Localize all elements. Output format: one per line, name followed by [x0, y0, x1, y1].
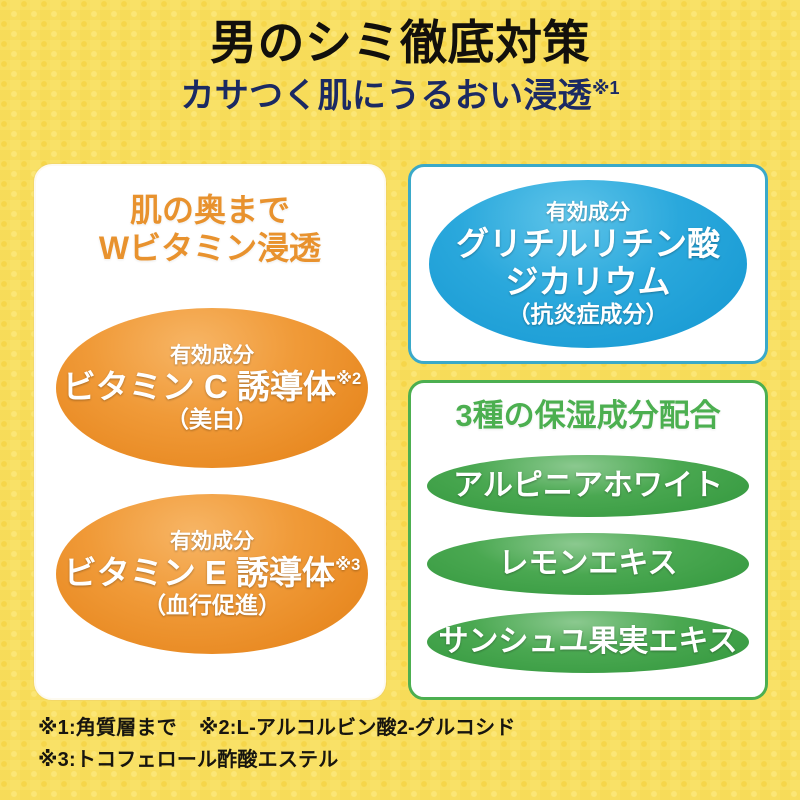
glycyrrhizinate-active-label: 有効成分 — [546, 201, 630, 225]
ellipse-lemon-extract: レモンエキス — [427, 533, 749, 595]
glycyrrhizinate-effect: （抗炎症成分） — [508, 301, 669, 327]
header: 男のシミ徹底対策 カサつく肌にうるおい浸透※1 — [0, 18, 800, 115]
vitamin-e-effect: （血行促進） — [143, 592, 281, 618]
ellipse-glycyrrhizinate: 有効成分 グリチルリチン酸 ジカリウム （抗炎症成分） — [429, 180, 747, 348]
glycyrrhizinate-name-line-1: グリチルリチン酸 — [456, 225, 720, 263]
lemon-extract-label: レモンエキス — [498, 547, 677, 582]
vitamin-c-footnote-marker: ※2 — [336, 370, 361, 388]
moisture-card-heading: 3種の保湿成分配合 — [411, 398, 765, 435]
ellipse-alpinia-white: アルピニアホワイト — [427, 455, 749, 517]
card-glycyrrhizinate: 有効成分 グリチルリチン酸 ジカリウム （抗炎症成分） — [408, 164, 768, 364]
footnote-3: ※3:トコフェロール酢酸エステル — [38, 749, 338, 771]
vitamin-c-effect: （美白） — [166, 406, 258, 432]
vitamin-card-heading-line-1: 肌の奥まで — [36, 192, 384, 230]
vitamin-card-heading-line-2: Wビタミン浸透 — [36, 230, 384, 268]
vitamin-e-name-text: ビタミン E 誘導体 — [64, 554, 335, 591]
footnotes: ※1:角質層まで※2:L-アルコルビン酸2-グルコシド ※3:トコフェロール酢酸… — [38, 712, 758, 777]
vitamin-c-name: ビタミン C 誘導体※2 — [63, 368, 361, 406]
page-title: 男のシミ徹底対策 — [0, 18, 800, 69]
page-subtitle-text: カサつく肌にうるおい浸透 — [180, 77, 592, 115]
infographic-page: 男のシミ徹底対策 カサつく肌にうるおい浸透※1 肌の奥まで Wビタミン浸透 有効… — [0, 0, 800, 800]
vitamin-e-active-label: 有効成分 — [170, 530, 254, 554]
vitamin-e-footnote-marker: ※3 — [335, 556, 360, 574]
footnote-row-1: ※1:角質層まで※2:L-アルコルビン酸2-グルコシド — [38, 712, 758, 744]
vitamin-e-name: ビタミン E 誘導体※3 — [64, 554, 361, 592]
vitamin-card-heading: 肌の奥まで Wビタミン浸透 — [36, 192, 384, 268]
cornus-fruit-extract-label: サンシュユ果実エキス — [438, 625, 737, 660]
glycyrrhizinate-name-line-2: ジカリウム — [506, 263, 671, 301]
footnote-1: ※1:角質層まで — [38, 717, 177, 739]
vitamin-c-name-text: ビタミン C 誘導体 — [63, 368, 336, 405]
card-moisturizing-ingredients: 3種の保湿成分配合 アルピニアホワイト レモンエキス サンシュユ果実エキス — [408, 380, 768, 700]
ellipse-vitamin-c: 有効成分 ビタミン C 誘導体※2 （美白） — [56, 308, 368, 468]
page-subtitle: カサつく肌にうるおい浸透※1 — [0, 78, 800, 115]
page-subtitle-footnote-marker: ※1 — [592, 78, 620, 98]
alpinia-white-label: アルピニアホワイト — [453, 469, 723, 504]
ellipse-cornus-fruit-extract: サンシュユ果実エキス — [427, 611, 749, 673]
footnote-row-2: ※3:トコフェロール酢酸エステル — [38, 744, 758, 776]
vitamin-c-active-label: 有効成分 — [170, 344, 254, 368]
footnote-2: ※2:L-アルコルビン酸2-グルコシド — [199, 717, 516, 739]
card-vitamin-penetration: 肌の奥まで Wビタミン浸透 有効成分 ビタミン C 誘導体※2 （美白） 有効成… — [34, 164, 386, 700]
ellipse-vitamin-e: 有効成分 ビタミン E 誘導体※3 （血行促進） — [56, 494, 368, 654]
